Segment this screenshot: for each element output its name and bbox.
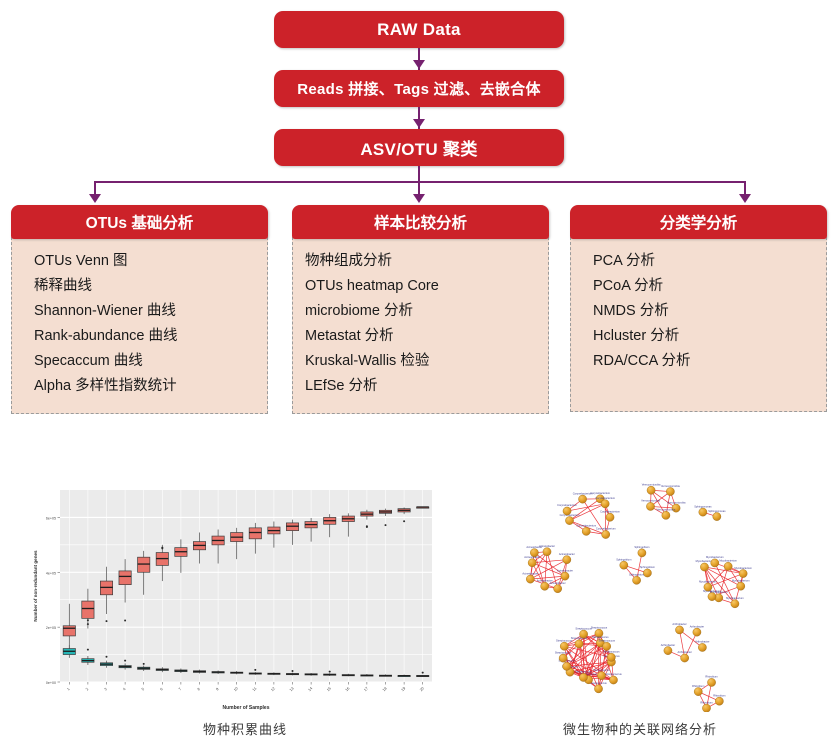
analysis-column-taxonomy: 分类学分析 PCA 分析 PCoA 分析 NMDS 分析 Hcluster 分析… bbox=[570, 205, 827, 412]
network-edge bbox=[651, 490, 666, 515]
figure-caption-microbial-network: 微生物种的关联网络分析 bbox=[500, 719, 780, 738]
list-item[interactable]: Shannon-Wiener 曲线 bbox=[34, 299, 257, 324]
network-node-label: Corynebacterium bbox=[600, 509, 620, 513]
network-node-label: Arthrobacter bbox=[695, 640, 709, 644]
x-tick-label: 13 bbox=[289, 686, 295, 692]
network-node bbox=[664, 647, 672, 655]
network-node bbox=[715, 697, 723, 705]
network-node-label: Streptococcus bbox=[590, 681, 607, 685]
x-tick-label: 10 bbox=[233, 686, 239, 692]
connector-horizontal-bar bbox=[94, 181, 746, 183]
network-node bbox=[675, 626, 683, 634]
network-node bbox=[565, 516, 573, 524]
network-node bbox=[594, 685, 602, 693]
y-axis-title: Number of non-redundant genes bbox=[33, 550, 38, 622]
network-node bbox=[530, 549, 538, 557]
species-accumulation-boxplot: 0e+002e+054e+056e+0512345678910111213141… bbox=[28, 482, 438, 712]
column-header-sample-compare[interactable]: 样本比较分析 bbox=[292, 205, 549, 239]
figure-caption-species-accumulation: 物种积累曲线 bbox=[120, 719, 370, 738]
network-cluster: AcinetobacterAcinetobacterAcinetobacterA… bbox=[522, 544, 574, 593]
network-node-label: Mycobacterium bbox=[699, 579, 717, 583]
network-node-label: Acinetobacter bbox=[559, 552, 575, 556]
list-item[interactable]: RDA/CCA 分析 bbox=[593, 349, 816, 374]
network-node bbox=[698, 643, 706, 651]
list-item[interactable]: LEfSe 分析 bbox=[305, 374, 538, 399]
network-node bbox=[737, 582, 745, 590]
network-node bbox=[609, 676, 617, 684]
network-node-label: Sphingobium bbox=[640, 565, 655, 569]
outlier-point bbox=[124, 660, 126, 662]
arrow-down-icon bbox=[739, 194, 751, 203]
analysis-column-otus-basic: OTUs 基础分析 OTUs Venn 图 稀释曲线 Shannon-Wiene… bbox=[11, 205, 268, 414]
network-node-label: Rhizobium bbox=[700, 700, 712, 704]
network-node-label: Arthrobacter bbox=[690, 624, 704, 628]
x-tick-label: 8 bbox=[197, 687, 201, 691]
list-item[interactable]: 物种组成分析 bbox=[305, 249, 538, 274]
list-item[interactable]: Rank-abundance 曲线 bbox=[34, 324, 257, 349]
network-node-label: Acinetobacter bbox=[539, 544, 555, 548]
box-group bbox=[417, 507, 429, 508]
x-tick-label: 1 bbox=[66, 687, 70, 691]
network-node-label: Streptococcus bbox=[555, 650, 572, 654]
x-tick-label: 17 bbox=[363, 686, 369, 692]
flow-step-raw-data[interactable]: RAW Data bbox=[274, 11, 564, 48]
network-node-label: Sphingomonas bbox=[708, 509, 726, 513]
x-tick-label: 9 bbox=[215, 687, 219, 691]
network-node bbox=[563, 507, 571, 515]
network-node bbox=[543, 548, 551, 556]
outlier-point bbox=[161, 547, 163, 549]
column-body-sample-compare: 物种组成分析 OTUs heatmap Core microbiome 分析 M… bbox=[292, 237, 549, 414]
network-node-label: Arthrobacter bbox=[672, 622, 686, 626]
network-node bbox=[559, 654, 567, 662]
x-axis-title: Number of Samples bbox=[223, 705, 270, 711]
outlier-point bbox=[143, 663, 145, 665]
column-header-taxonomy[interactable]: 分类学分析 bbox=[570, 205, 827, 239]
list-item[interactable]: Specaccum 曲线 bbox=[34, 349, 257, 374]
y-tick-label: 6e+05 bbox=[46, 516, 56, 520]
network-node bbox=[704, 583, 712, 591]
x-tick-label: 4 bbox=[122, 687, 126, 691]
network-node bbox=[561, 572, 569, 580]
analysis-item-list: 物种组成分析 OTUs heatmap Core microbiome 分析 M… bbox=[293, 249, 548, 399]
outlier-point bbox=[87, 619, 89, 621]
y-tick-label: 4e+05 bbox=[46, 571, 56, 575]
microbial-network-graph: CorynebacteriumCorynebacteriumCorynebact… bbox=[505, 480, 825, 712]
flow-step-reads-processing[interactable]: Reads 拼接、Tags 过滤、去嵌合体 bbox=[274, 70, 564, 107]
network-node bbox=[647, 486, 655, 494]
network-node bbox=[666, 487, 674, 495]
connector-asv-to-branch bbox=[418, 166, 420, 182]
network-node-label: Sphingomonas bbox=[694, 504, 712, 508]
network-node bbox=[597, 672, 605, 680]
column-body-otus-basic: OTUs Venn 图 稀释曲线 Shannon-Wiener 曲线 Rank-… bbox=[11, 237, 268, 414]
connector-drop-left bbox=[94, 181, 96, 195]
network-node bbox=[638, 549, 646, 557]
column-body-taxonomy: PCA 分析 PCoA 分析 NMDS 分析 Hcluster 分析 RDA/C… bbox=[570, 237, 827, 412]
network-node bbox=[554, 585, 562, 593]
box-rect bbox=[249, 528, 261, 539]
network-node bbox=[694, 688, 702, 696]
figures-row: 0e+002e+054e+056e+0512345678910111213141… bbox=[0, 462, 838, 750]
network-node-label: Verrucomicrobia bbox=[657, 508, 676, 512]
network-node bbox=[713, 512, 721, 520]
flow-step-asv-otu-clustering[interactable]: ASV/OTU 聚类 bbox=[274, 129, 564, 166]
outlier-point bbox=[329, 671, 331, 673]
outlier-point bbox=[87, 649, 89, 651]
network-node-label: Acinetobacter bbox=[557, 568, 573, 572]
x-tick-label: 14 bbox=[307, 686, 313, 692]
outlier-point bbox=[366, 526, 368, 528]
analysis-column-sample-compare: 样本比较分析 物种组成分析 OTUs heatmap Core microbio… bbox=[292, 205, 549, 414]
network-node bbox=[708, 592, 716, 600]
network-node-label: Streptococcus bbox=[593, 668, 610, 672]
network-node-label: Corynebacterium bbox=[590, 491, 610, 495]
network-node bbox=[560, 642, 568, 650]
boxplot-canvas: 0e+002e+054e+056e+0512345678910111213141… bbox=[28, 482, 438, 712]
network-node bbox=[693, 628, 701, 636]
network-node bbox=[731, 600, 739, 608]
network-node-label: Arthrobacter bbox=[678, 650, 692, 654]
connector-drop-center bbox=[418, 181, 420, 195]
network-node bbox=[579, 673, 587, 681]
network-node bbox=[681, 654, 689, 662]
network-node bbox=[702, 704, 710, 712]
network-node-label: Acinetobacter bbox=[537, 578, 553, 582]
network-node bbox=[602, 530, 610, 538]
x-tick-label: 15 bbox=[326, 686, 332, 692]
network-node bbox=[607, 653, 615, 661]
x-tick-label: 19 bbox=[400, 686, 406, 692]
network-node bbox=[526, 575, 534, 583]
network-node-label: Sphingobium bbox=[634, 545, 649, 549]
network-node-label: Streptococcus bbox=[591, 625, 608, 629]
box-rect bbox=[63, 626, 75, 636]
arrow-down-icon bbox=[89, 194, 101, 203]
network-node bbox=[575, 640, 583, 648]
x-tick-label: 12 bbox=[270, 686, 276, 692]
arrow-down-icon bbox=[413, 194, 425, 203]
network-node bbox=[563, 556, 571, 564]
network-node-label: Streptococcus bbox=[575, 670, 592, 674]
network-cluster: CorynebacteriumCorynebacteriumCorynebact… bbox=[557, 491, 620, 539]
network-node-label: Streptococcus bbox=[605, 672, 622, 676]
outlier-point bbox=[292, 670, 294, 672]
analysis-item-list: OTUs Venn 图 稀释曲线 Shannon-Wiener 曲线 Rank-… bbox=[12, 249, 267, 399]
network-node-label: Mycobacterium bbox=[726, 596, 744, 600]
outlier-point bbox=[87, 623, 89, 625]
list-item[interactable]: Hcluster 分析 bbox=[593, 324, 816, 349]
network-node-label: Sphingobium bbox=[629, 572, 644, 576]
network-cluster: SphingobiumSphingobiumSphingobiumSphingo… bbox=[616, 545, 655, 584]
network-node-label: Rhizobium bbox=[713, 693, 725, 697]
network-node-label: Verrucomicrobia bbox=[661, 484, 680, 488]
network-node bbox=[582, 527, 590, 535]
box-rect bbox=[119, 571, 131, 585]
network-node-label: Mycobacterium bbox=[719, 559, 737, 563]
list-item[interactable]: PCA 分析 bbox=[593, 249, 816, 274]
x-tick-label: 5 bbox=[141, 687, 145, 691]
network-canvas: CorynebacteriumCorynebacteriumCorynebact… bbox=[505, 480, 825, 712]
network-node bbox=[620, 561, 628, 569]
network-node bbox=[707, 678, 715, 686]
network-node-label: Mycobacterium bbox=[734, 566, 752, 570]
outlier-point bbox=[403, 520, 405, 522]
x-tick-label: 2 bbox=[85, 687, 89, 691]
list-item[interactable]: 稀释曲线 bbox=[34, 274, 257, 299]
plot-panel bbox=[60, 490, 432, 682]
outlier-point bbox=[106, 656, 108, 658]
outlier-point bbox=[254, 669, 256, 671]
box-rect bbox=[138, 557, 150, 572]
outlier-point bbox=[385, 524, 387, 526]
network-node-label: Mycobacterium bbox=[706, 555, 724, 559]
network-node-label: Acinetobacter bbox=[522, 571, 538, 575]
network-node-label: Streptococcus bbox=[598, 639, 615, 643]
x-tick-label: 7 bbox=[178, 687, 182, 691]
network-node bbox=[606, 513, 614, 521]
network-cluster: VerrucomicrobiaVerrucomicrobiaVerrucomic… bbox=[641, 482, 686, 519]
y-tick-label: 2e+05 bbox=[46, 626, 56, 630]
list-item[interactable]: PCoA 分析 bbox=[593, 274, 816, 299]
network-node-label: Sphingobium bbox=[616, 557, 631, 561]
network-node bbox=[700, 563, 708, 571]
x-tick-label: 16 bbox=[345, 686, 351, 692]
list-item[interactable]: microbiome 分析 bbox=[305, 299, 538, 324]
arrow-down-icon bbox=[413, 119, 425, 128]
arrow-down-icon bbox=[413, 60, 425, 69]
network-node-label: Verrucomicrobia bbox=[642, 482, 661, 486]
list-item[interactable]: Kruskal-Wallis 检验 bbox=[305, 349, 538, 374]
list-item[interactable]: OTUs heatmap Core bbox=[305, 274, 538, 299]
network-cluster: RhizobiumRhizobiumRhizobiumRhizobium bbox=[692, 675, 725, 712]
network-cluster: ArthrobacterArthrobacterArthrobacterArth… bbox=[661, 622, 710, 662]
network-node bbox=[633, 576, 641, 584]
network-node bbox=[580, 630, 588, 638]
network-node-label: Rhizobium bbox=[692, 684, 704, 688]
box-rect bbox=[82, 601, 94, 618]
network-node bbox=[541, 582, 549, 590]
network-node-label: Corynebacterium bbox=[576, 524, 596, 528]
x-tick-label: 6 bbox=[159, 687, 163, 691]
network-node bbox=[563, 662, 571, 670]
network-node bbox=[699, 508, 707, 516]
network-node bbox=[528, 559, 536, 567]
network-node-label: Verrucomicrobia bbox=[641, 499, 660, 503]
network-node bbox=[643, 569, 651, 577]
network-node-label: Arthrobacter bbox=[661, 643, 675, 647]
network-node-label: Corynebacterium bbox=[595, 496, 615, 500]
network-node-label: Rhizobium bbox=[705, 675, 717, 679]
outlier-point bbox=[106, 620, 108, 622]
list-item[interactable]: Metastat 分析 bbox=[305, 324, 538, 349]
network-node bbox=[724, 562, 732, 570]
list-item[interactable]: OTUs Venn 图 bbox=[34, 249, 257, 274]
network-node-label: Verrucomicrobia bbox=[667, 500, 686, 504]
outlier-point bbox=[422, 672, 424, 674]
outlier-point bbox=[124, 620, 126, 622]
list-item[interactable]: NMDS 分析 bbox=[593, 299, 816, 324]
network-node bbox=[646, 502, 654, 510]
x-tick-label: 3 bbox=[104, 687, 108, 691]
network-cluster: MycobacteriumMycobacteriumMycobacteriumM… bbox=[696, 555, 752, 608]
network-node-label: Streptococcus bbox=[603, 650, 620, 654]
x-tick-label: 11 bbox=[252, 686, 258, 692]
list-item[interactable]: Alpha 多样性指数统计 bbox=[34, 374, 257, 399]
column-header-otus-basic[interactable]: OTUs 基础分析 bbox=[11, 205, 268, 239]
network-node bbox=[739, 569, 747, 577]
network-node bbox=[578, 495, 586, 503]
y-tick-label: 0e+00 bbox=[46, 681, 56, 685]
network-node bbox=[711, 559, 719, 567]
network-node-label: Corynebacterium bbox=[557, 503, 577, 507]
x-tick-label: 20 bbox=[419, 686, 425, 692]
x-tick-label: 18 bbox=[382, 686, 388, 692]
network-node bbox=[662, 511, 670, 519]
network-node-label: Mycobacterium bbox=[732, 578, 750, 582]
network-node-label: Corynebacterium bbox=[596, 527, 616, 531]
network-cluster: StreptococcusStreptococcusStreptococcusS… bbox=[555, 625, 622, 692]
network-node bbox=[603, 642, 611, 650]
connector-drop-right bbox=[744, 181, 746, 195]
analysis-item-list: PCA 分析 PCoA 分析 NMDS 分析 Hcluster 分析 RDA/C… bbox=[571, 249, 826, 374]
network-node bbox=[601, 500, 609, 508]
network-cluster: SphingomonasSphingomonas bbox=[694, 504, 726, 520]
